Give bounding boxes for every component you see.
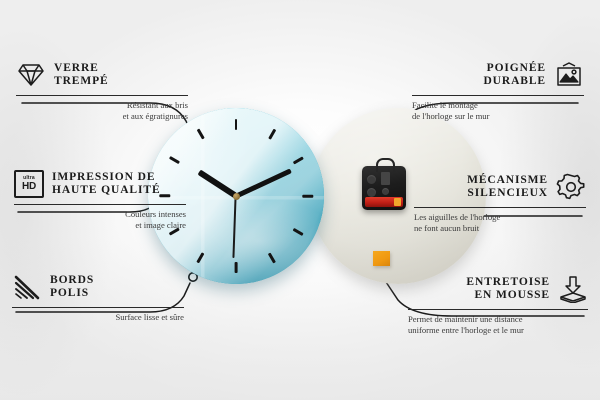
ultra-hd-icon: ultra HD xyxy=(14,169,44,199)
divider xyxy=(414,207,586,208)
hanger-loop-icon xyxy=(376,158,395,172)
feature-title: MÉCANISMESILENCIEUX xyxy=(467,174,548,201)
feature-description: Surface lisse et sûre xyxy=(12,312,184,323)
picture-hanger-icon xyxy=(554,60,584,90)
hour-tick xyxy=(235,119,238,130)
feature-header: VERRETREMPÉ xyxy=(16,58,188,92)
hour-tick xyxy=(235,262,238,273)
feature-entretoise-en-mousse: ENTRETOISEEN MOUSSE Permet de maintenir … xyxy=(408,272,588,336)
feature-title: BORDSPOLIS xyxy=(50,274,94,301)
mechanism-dial xyxy=(367,175,376,184)
polished-edge-icon xyxy=(12,272,42,302)
divider xyxy=(16,95,188,96)
mechanism-slot xyxy=(381,172,390,185)
divider xyxy=(14,204,186,205)
battery-terminal xyxy=(394,198,401,206)
feature-bords-polis: BORDSPOLIS Surface lisse et sûre xyxy=(12,270,184,323)
feature-verre-trempe: VERRETREMPÉ Résistant aux briset aux égr… xyxy=(16,58,188,122)
divider xyxy=(408,309,588,310)
feature-mecanisme-silencieux: MÉCANISMESILENCIEUX Les aiguilles de l'h… xyxy=(414,170,586,234)
foam-spacer-pad xyxy=(373,251,390,266)
feature-description: Les aiguilles de l'horlogene font aucun … xyxy=(414,212,586,234)
feature-impression-haute-qualite: ultra HD IMPRESSION DEHAUTE QUALITÉ Coul… xyxy=(14,167,186,231)
mechanism-dial xyxy=(367,188,376,197)
hour-tick xyxy=(302,195,313,198)
divider xyxy=(12,307,184,308)
mechanism-dial xyxy=(382,188,389,195)
feature-header: ENTRETOISEEN MOUSSE xyxy=(408,272,588,306)
clock-mechanism xyxy=(362,166,406,210)
infographic-canvas: VERRETREMPÉ Résistant aux briset aux égr… xyxy=(0,0,600,400)
foam-spacer-icon xyxy=(558,274,588,304)
feature-poignee-durable: POIGNÉEDURABLE Facilite le montagede l'h… xyxy=(412,58,584,122)
feature-description: Résistant aux briset aux égratignures xyxy=(16,100,188,122)
feature-header: POIGNÉEDURABLE xyxy=(412,58,584,92)
hand-center-cap xyxy=(233,193,240,200)
feature-header: BORDSPOLIS xyxy=(12,270,184,304)
feature-description: Couleurs intenseset image claire xyxy=(14,209,186,231)
feature-title: POIGNÉEDURABLE xyxy=(483,62,546,89)
feature-title: VERRETREMPÉ xyxy=(54,62,109,89)
battery xyxy=(365,197,403,207)
diamond-icon xyxy=(16,60,46,90)
divider xyxy=(412,95,584,96)
feature-header: ultra HD IMPRESSION DEHAUTE QUALITÉ xyxy=(14,167,186,201)
feature-header: MÉCANISMESILENCIEUX xyxy=(414,170,586,204)
feature-title: IMPRESSION DEHAUTE QUALITÉ xyxy=(52,171,161,198)
feature-title: ENTRETOISEEN MOUSSE xyxy=(466,276,550,303)
gear-icon xyxy=(556,172,586,202)
feature-description: Permet de maintenir une distanceuniforme… xyxy=(408,314,588,336)
feature-description: Facilite le montagede l'horloge sur le m… xyxy=(412,100,584,122)
